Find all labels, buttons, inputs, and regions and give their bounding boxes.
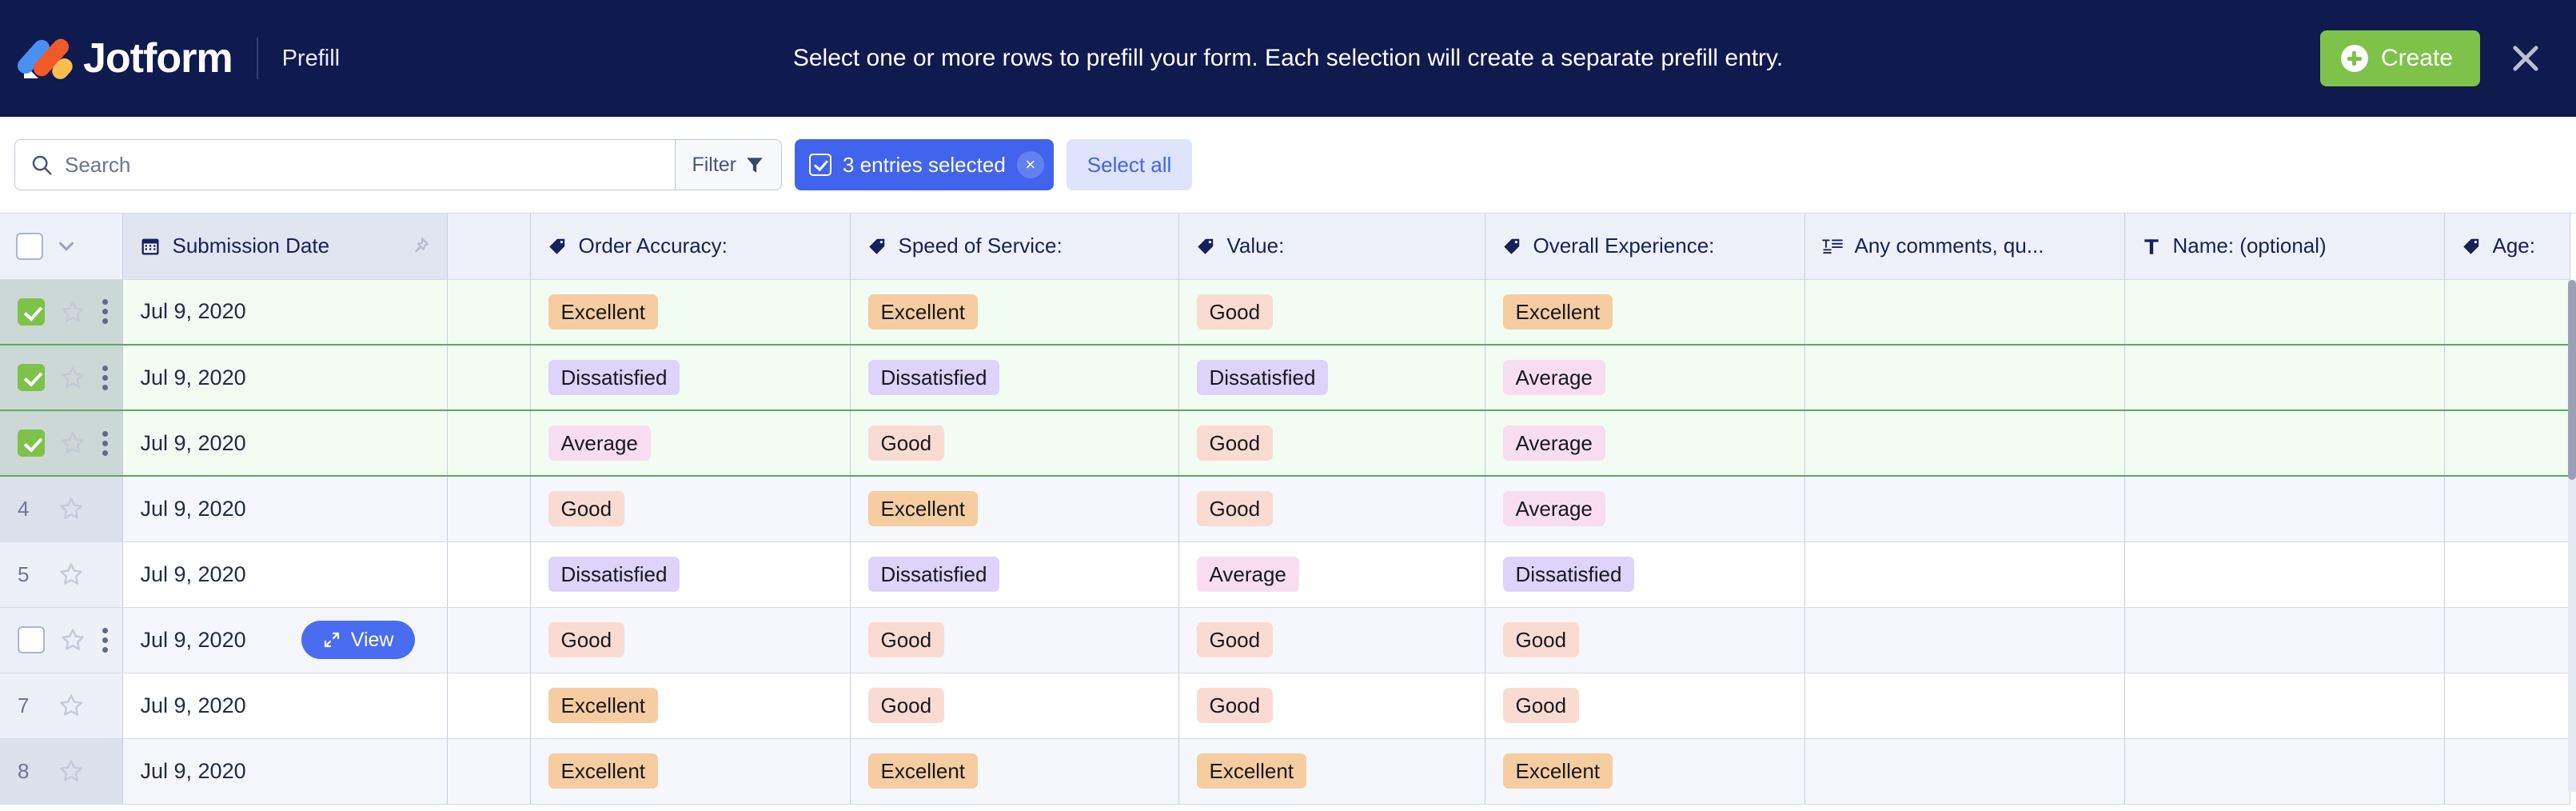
submission-date-value: Jul 9, 2020 xyxy=(141,759,246,784)
row-number: 7 xyxy=(18,693,43,718)
cell-name[interactable] xyxy=(2124,476,2444,541)
create-button-label: Create xyxy=(2381,45,2453,72)
cell-speed-of-service[interactable]: Excellent xyxy=(850,279,1178,345)
rating-badge: Excellent xyxy=(548,688,659,723)
search-container: Filter xyxy=(14,139,782,190)
brand-wordmark: Jotform xyxy=(83,34,233,82)
cell-value[interactable]: Good xyxy=(1178,607,1485,673)
cell-overall-experience[interactable]: Average xyxy=(1485,476,1804,541)
cell-name[interactable] xyxy=(2124,673,2444,738)
app-header: Jotform Prefill Select one or more rows … xyxy=(0,0,2576,117)
cell-name[interactable] xyxy=(2124,541,2444,607)
row-menu-icon[interactable] xyxy=(101,299,109,324)
cell-age[interactable] xyxy=(2444,673,2570,738)
submission-date-value: Jul 9, 2020 xyxy=(141,562,246,587)
view-row-button[interactable]: View xyxy=(301,621,415,659)
submission-date-value: Jul 9, 2020 xyxy=(141,299,246,324)
cell-order-accuracy[interactable]: Dissatisfied xyxy=(530,541,850,607)
tag-icon xyxy=(1195,236,1216,257)
search-field[interactable] xyxy=(15,140,675,190)
cell-age[interactable] xyxy=(2444,607,2570,673)
submissions-table: Submission Date Order Accuracy: xyxy=(0,214,2570,805)
cell-submission-date[interactable]: Jul 9, 2020 xyxy=(122,476,447,541)
filter-button[interactable]: Filter xyxy=(675,140,781,190)
rating-badge: Average xyxy=(1503,360,1605,395)
cell-overall-experience[interactable]: Excellent xyxy=(1485,738,1804,804)
calendar-icon xyxy=(139,235,161,258)
submission-date-value: Jul 9, 2020 xyxy=(141,497,246,521)
column-header-label: Name: (optional) xyxy=(2173,234,2327,258)
select-all-label: Select all xyxy=(1087,153,1172,178)
cell-value[interactable]: Dissatisfied xyxy=(1178,345,1485,410)
rating-badge: Excellent xyxy=(868,753,979,789)
cell-blank[interactable] xyxy=(447,279,530,345)
row-menu-icon[interactable] xyxy=(101,628,109,653)
rating-badge: Excellent xyxy=(548,294,659,330)
cell-submission-date[interactable]: Jul 9, 2020View xyxy=(122,607,447,673)
filter-label: Filter xyxy=(692,154,736,177)
rating-badge: Good xyxy=(868,622,945,657)
submission-date-value: Jul 9, 2020 xyxy=(141,431,246,456)
cell-speed-of-service[interactable]: Excellent xyxy=(850,476,1178,541)
cell-any-comments[interactable] xyxy=(1804,673,2124,738)
cell-value[interactable]: Excellent xyxy=(1178,738,1485,804)
table-row[interactable]: Jul 9, 2020ViewGoodGoodGoodGood xyxy=(0,607,2570,673)
entries-selected-label: 3 entries selected xyxy=(843,153,1006,178)
favorite-star-icon[interactable] xyxy=(58,692,85,719)
cell-value[interactable]: Good xyxy=(1178,673,1485,738)
rating-badge: Good xyxy=(1197,425,1274,461)
row-menu-icon[interactable] xyxy=(101,431,109,456)
column-header-blank xyxy=(447,214,530,279)
row-gutter-cell[interactable]: 4 xyxy=(0,476,122,541)
rating-badge: Average xyxy=(548,425,651,461)
rating-badge: Excellent xyxy=(868,294,979,330)
cell-submission-date[interactable]: Jul 9, 2020 xyxy=(122,345,447,410)
rating-badge: Average xyxy=(1503,425,1605,461)
section-title: Prefill xyxy=(282,46,341,72)
row-number: 4 xyxy=(18,497,43,521)
clear-selection-icon[interactable]: × xyxy=(1017,151,1044,178)
cell-name[interactable] xyxy=(2124,279,2444,345)
cell-speed-of-service[interactable]: Good xyxy=(850,607,1178,673)
rating-badge: Dissatisfied xyxy=(1503,557,1635,592)
cell-any-comments[interactable] xyxy=(1804,738,2124,804)
column-header-label: Overall Experience: xyxy=(1533,234,1715,258)
select-all-checkbox[interactable] xyxy=(16,233,43,260)
cell-overall-experience[interactable]: Average xyxy=(1485,410,1804,476)
select-all-button[interactable]: Select all xyxy=(1067,139,1193,190)
cell-any-comments[interactable] xyxy=(1804,476,2124,541)
table-header: Submission Date Order Accuracy: xyxy=(0,214,2570,279)
cell-name[interactable] xyxy=(2124,607,2444,673)
cell-speed-of-service[interactable]: Excellent xyxy=(850,738,1178,804)
cell-any-comments[interactable] xyxy=(1804,607,2124,673)
column-header-overall-experience[interactable]: Overall Experience: xyxy=(1485,214,1804,279)
cell-order-accuracy[interactable]: Excellent xyxy=(530,673,850,738)
brand: Jotform xyxy=(22,34,233,82)
cell-age[interactable] xyxy=(2444,476,2570,541)
cell-order-accuracy[interactable]: Dissatisfied xyxy=(530,345,850,410)
row-gutter-cell[interactable] xyxy=(0,410,122,476)
favorite-star-icon[interactable] xyxy=(59,626,86,653)
rating-badge: Good xyxy=(1503,622,1580,657)
favorite-star-icon[interactable] xyxy=(59,298,86,326)
submission-date-value: Jul 9, 2020 xyxy=(141,693,246,718)
cell-order-accuracy[interactable]: Good xyxy=(530,476,850,541)
cell-order-accuracy[interactable]: Good xyxy=(530,607,850,673)
table-header-row: Submission Date Order Accuracy: xyxy=(0,214,2570,279)
header-headline: Select one or more rows to prefill your … xyxy=(0,45,2576,72)
rating-badge: Good xyxy=(1197,491,1274,526)
submissions-table-area: Submission Date Order Accuracy: xyxy=(0,213,2576,811)
rating-badge: Dissatisfied xyxy=(548,557,680,592)
cell-value[interactable]: Good xyxy=(1178,476,1485,541)
search-icon xyxy=(30,153,54,177)
column-header-gutter xyxy=(0,214,122,279)
checked-box-icon xyxy=(809,154,831,176)
row-number: 8 xyxy=(18,759,43,784)
chevron-down-icon[interactable] xyxy=(54,234,78,258)
cell-order-accuracy[interactable]: Average xyxy=(530,410,850,476)
row-gutter-cell[interactable] xyxy=(0,607,122,673)
submission-date-value: Jul 9, 2020 xyxy=(141,628,246,653)
table-body: Jul 9, 2020ExcellentExcellentGoodExcelle… xyxy=(0,279,2570,804)
jotform-logo-icon xyxy=(22,35,70,82)
cell-overall-experience[interactable]: Excellent xyxy=(1485,279,1804,345)
pin-icon[interactable] xyxy=(409,235,431,258)
column-header-any-comments[interactable]: Any comments, qu... xyxy=(1804,214,2124,279)
column-header-label: Age: xyxy=(2493,234,2536,258)
rating-badge: Excellent xyxy=(1197,753,1307,789)
cell-order-accuracy[interactable]: Excellent xyxy=(530,279,850,345)
cell-submission-date[interactable]: Jul 9, 2020 xyxy=(122,279,447,345)
rating-badge: Good xyxy=(1197,622,1274,657)
rating-badge: Dissatisfied xyxy=(868,557,1000,592)
cell-blank[interactable] xyxy=(447,607,530,673)
cell-value[interactable]: Average xyxy=(1178,541,1485,607)
cell-value[interactable]: Good xyxy=(1178,279,1485,345)
cell-blank[interactable] xyxy=(447,476,530,541)
column-header-label: Value: xyxy=(1227,234,1285,258)
row-gutter-cell[interactable]: 5 xyxy=(0,541,122,607)
plus-circle-icon xyxy=(2341,45,2368,72)
row-checkbox[interactable] xyxy=(18,626,45,653)
cell-blank[interactable] xyxy=(447,673,530,738)
rating-badge: Dissatisfied xyxy=(1197,360,1329,395)
entries-selected-chip[interactable]: 3 entries selected × xyxy=(795,139,1054,190)
rating-badge: Good xyxy=(548,622,625,657)
cell-age[interactable] xyxy=(2444,738,2570,804)
cell-order-accuracy[interactable]: Excellent xyxy=(530,738,850,804)
rating-badge: Excellent xyxy=(548,753,659,789)
rating-badge: Good xyxy=(868,688,945,723)
cell-age[interactable] xyxy=(2444,279,2570,345)
column-header-value[interactable]: Value: xyxy=(1178,214,1485,279)
filter-funnel-icon xyxy=(744,154,765,175)
cell-age[interactable] xyxy=(2444,345,2570,410)
scrollbar-thumb xyxy=(2568,280,2576,480)
cell-speed-of-service[interactable]: Good xyxy=(850,410,1178,476)
rating-badge: Good xyxy=(548,491,625,526)
rating-badge: Excellent xyxy=(1503,294,1613,330)
favorite-star-icon[interactable] xyxy=(58,561,85,588)
rating-badge: Good xyxy=(1197,688,1274,723)
vertical-scrollbar[interactable] xyxy=(2568,280,2576,792)
cell-submission-date[interactable]: Jul 9, 2020 xyxy=(122,673,447,738)
column-header-speed-of-service[interactable]: Speed of Service: xyxy=(850,214,1178,279)
column-header-order-accuracy[interactable]: Order Accuracy: xyxy=(530,214,850,279)
table-row[interactable]: 8Jul 9, 2020ExcellentExcellentExcellentE… xyxy=(0,738,2570,804)
rating-badge: Average xyxy=(1503,491,1605,526)
row-gutter-cell[interactable]: 8 xyxy=(0,738,122,804)
cell-submission-date[interactable]: Jul 9, 2020 xyxy=(122,541,447,607)
row-gutter-cell[interactable] xyxy=(0,345,122,410)
expand-icon xyxy=(322,630,341,649)
favorite-star-icon[interactable] xyxy=(58,495,85,522)
cell-overall-experience[interactable]: Dissatisfied xyxy=(1485,541,1804,607)
cell-blank[interactable] xyxy=(447,738,530,804)
cell-age[interactable] xyxy=(2444,410,2570,476)
cell-blank[interactable] xyxy=(447,410,530,476)
cell-submission-date[interactable]: Jul 9, 2020 xyxy=(122,410,447,476)
favorite-star-icon[interactable] xyxy=(59,364,86,391)
cell-value[interactable]: Good xyxy=(1178,410,1485,476)
column-header-label: Speed of Service: xyxy=(899,234,1063,258)
cell-name[interactable] xyxy=(2124,738,2444,804)
close-icon[interactable] xyxy=(2507,40,2544,77)
rating-badge: Good xyxy=(868,425,945,461)
cell-name[interactable] xyxy=(2124,410,2444,476)
row-gutter-cell[interactable] xyxy=(0,279,122,345)
column-header-name[interactable]: Name: (optional) xyxy=(2124,214,2444,279)
cell-age[interactable] xyxy=(2444,541,2570,607)
rating-badge: Good xyxy=(1197,294,1274,330)
rating-badge: Dissatisfied xyxy=(868,360,1000,395)
cell-overall-experience[interactable]: Good xyxy=(1485,673,1804,738)
table-row[interactable]: Jul 9, 2020ExcellentExcellentGoodExcelle… xyxy=(0,279,2570,345)
submission-date-value: Jul 9, 2020 xyxy=(141,366,246,390)
tag-icon xyxy=(547,236,568,257)
header-divider xyxy=(257,38,258,79)
row-checkbox[interactable] xyxy=(18,298,45,326)
table-row[interactable]: Jul 9, 2020AverageGoodGoodAverage xyxy=(0,410,2570,476)
table-row[interactable]: 7Jul 9, 2020ExcellentGoodGoodGood xyxy=(0,673,2570,738)
rating-badge: Average xyxy=(1197,557,1299,592)
long-text-icon xyxy=(1821,236,1844,257)
row-number: 5 xyxy=(18,562,43,587)
cell-blank[interactable] xyxy=(447,541,530,607)
favorite-star-icon[interactable] xyxy=(58,757,85,785)
row-checkbox[interactable] xyxy=(18,429,45,457)
table-row[interactable]: 5Jul 9, 2020DissatisfiedDissatisfiedAver… xyxy=(0,541,2570,607)
cell-blank[interactable] xyxy=(447,345,530,410)
tag-icon xyxy=(2461,236,2482,257)
row-menu-icon[interactable] xyxy=(101,366,109,390)
create-button[interactable]: Create xyxy=(2320,30,2480,86)
rating-badge: Excellent xyxy=(1503,753,1613,789)
column-header-label: Any comments, qu... xyxy=(1855,234,2044,258)
rating-badge: Dissatisfied xyxy=(548,360,680,395)
cell-any-comments[interactable] xyxy=(1804,279,2124,345)
cell-speed-of-service[interactable]: Dissatisfied xyxy=(850,541,1178,607)
view-button-label: View xyxy=(351,629,394,652)
cell-submission-date[interactable]: Jul 9, 2020 xyxy=(122,738,447,804)
tag-icon xyxy=(867,236,887,257)
favorite-star-icon[interactable] xyxy=(59,429,86,457)
cell-speed-of-service[interactable]: Dissatisfied xyxy=(850,345,1178,410)
table-toolbar: Filter 3 entries selected × Select all xyxy=(0,117,2576,213)
cell-speed-of-service[interactable]: Good xyxy=(850,673,1178,738)
cell-overall-experience[interactable]: Good xyxy=(1485,607,1804,673)
cell-any-comments[interactable] xyxy=(1804,410,2124,476)
cell-overall-experience[interactable]: Average xyxy=(1485,345,1804,410)
header-actions: Create xyxy=(2320,30,2544,86)
cell-any-comments[interactable] xyxy=(1804,541,2124,607)
row-checkbox[interactable] xyxy=(18,364,45,391)
tag-icon xyxy=(1501,236,1522,257)
column-header-submission-date[interactable]: Submission Date xyxy=(122,214,447,279)
rating-badge: Good xyxy=(1503,688,1580,723)
cell-name[interactable] xyxy=(2124,345,2444,410)
column-header-label: Submission Date xyxy=(173,234,330,258)
row-gutter-cell[interactable]: 7 xyxy=(0,673,122,738)
table-row[interactable]: Jul 9, 2020DissatisfiedDissatisfiedDissa… xyxy=(0,345,2570,410)
table-row[interactable]: 4Jul 9, 2020GoodExcellentGoodAverage xyxy=(0,476,2570,541)
search-input[interactable] xyxy=(65,153,660,178)
cell-any-comments[interactable] xyxy=(1804,345,2124,410)
short-text-icon xyxy=(2141,236,2162,257)
rating-badge: Excellent xyxy=(868,491,979,526)
column-header-label: Order Accuracy: xyxy=(579,234,728,258)
column-header-age[interactable]: Age: xyxy=(2444,214,2570,279)
